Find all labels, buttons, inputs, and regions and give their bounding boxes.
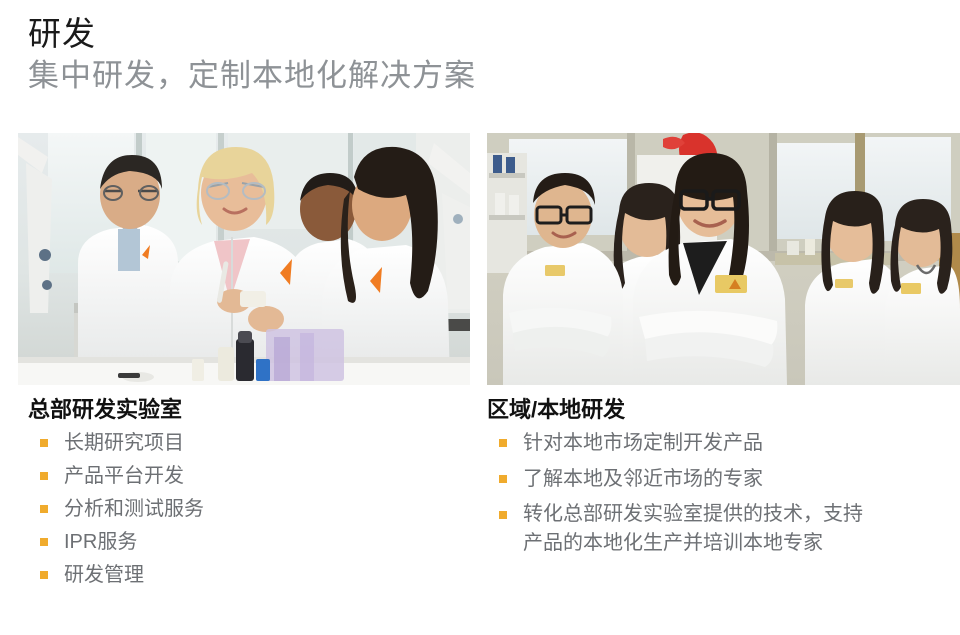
list-item: 针对本地市场定制开发产品 — [487, 428, 947, 458]
list-item: IPR服务 — [28, 527, 468, 557]
list-item-label: 研发管理 — [64, 560, 468, 590]
slide-header: 研发 集中研发，定制本地化解决方案 — [28, 14, 928, 96]
list-item-label: 了解本地及邻近市场的专家 — [523, 464, 947, 494]
list-item-label-line2: 产品的本地化生产并培训本地专家 — [523, 529, 947, 558]
column-heading-regional: 区域/本地研发 — [487, 396, 947, 424]
list-item: 转化总部研发实验室提供的技术，支持 产品的本地化生产并培训本地专家 — [487, 500, 947, 558]
regional-rd-team-photo-graphic — [487, 133, 960, 385]
list-item: 长期研究项目 — [28, 428, 468, 458]
bullet-list-headquarters: 长期研究项目 产品平台开发 分析和测试服务 IPR服务 研发管理 — [28, 428, 468, 590]
column-headquarters: 总部研发实验室 长期研究项目 产品平台开发 分析和测试服务 IPR服务 研发管理 — [28, 396, 468, 593]
list-item: 产品平台开发 — [28, 461, 468, 491]
square-bullet-icon — [40, 472, 48, 480]
list-item-label: 产品平台开发 — [64, 461, 468, 491]
square-bullet-icon — [40, 505, 48, 513]
regional-rd-team-photo — [487, 133, 960, 385]
page-subtitle: 集中研发，定制本地化解决方案 — [28, 56, 928, 96]
square-bullet-icon — [499, 511, 507, 519]
headquarters-rd-lab-photo-graphic — [18, 133, 470, 385]
square-bullet-icon — [499, 439, 507, 447]
list-item: 研发管理 — [28, 560, 468, 590]
square-bullet-icon — [40, 439, 48, 447]
list-item-label: 长期研究项目 — [64, 428, 468, 458]
list-item: 分析和测试服务 — [28, 494, 468, 524]
list-item: 了解本地及邻近市场的专家 — [487, 464, 947, 494]
bullet-list-regional: 针对本地市场定制开发产品 了解本地及邻近市场的专家 转化总部研发实验室提供的技术… — [487, 428, 947, 558]
column-heading-headquarters: 总部研发实验室 — [28, 396, 468, 424]
square-bullet-icon — [40, 571, 48, 579]
slide-canvas: 研发 集中研发，定制本地化解决方案 — [0, 0, 960, 635]
column-regional: 区域/本地研发 针对本地市场定制开发产品 了解本地及邻近市场的专家 转化总部研发… — [487, 396, 947, 564]
list-item-label: IPR服务 — [64, 527, 468, 557]
page-title: 研发 — [28, 14, 928, 54]
square-bullet-icon — [499, 475, 507, 483]
list-item-label: 针对本地市场定制开发产品 — [523, 428, 947, 458]
list-item-label: 转化总部研发实验室提供的技术，支持 — [523, 500, 947, 529]
headquarters-rd-lab-photo — [18, 133, 470, 385]
square-bullet-icon — [40, 538, 48, 546]
list-item-label: 分析和测试服务 — [64, 494, 468, 524]
